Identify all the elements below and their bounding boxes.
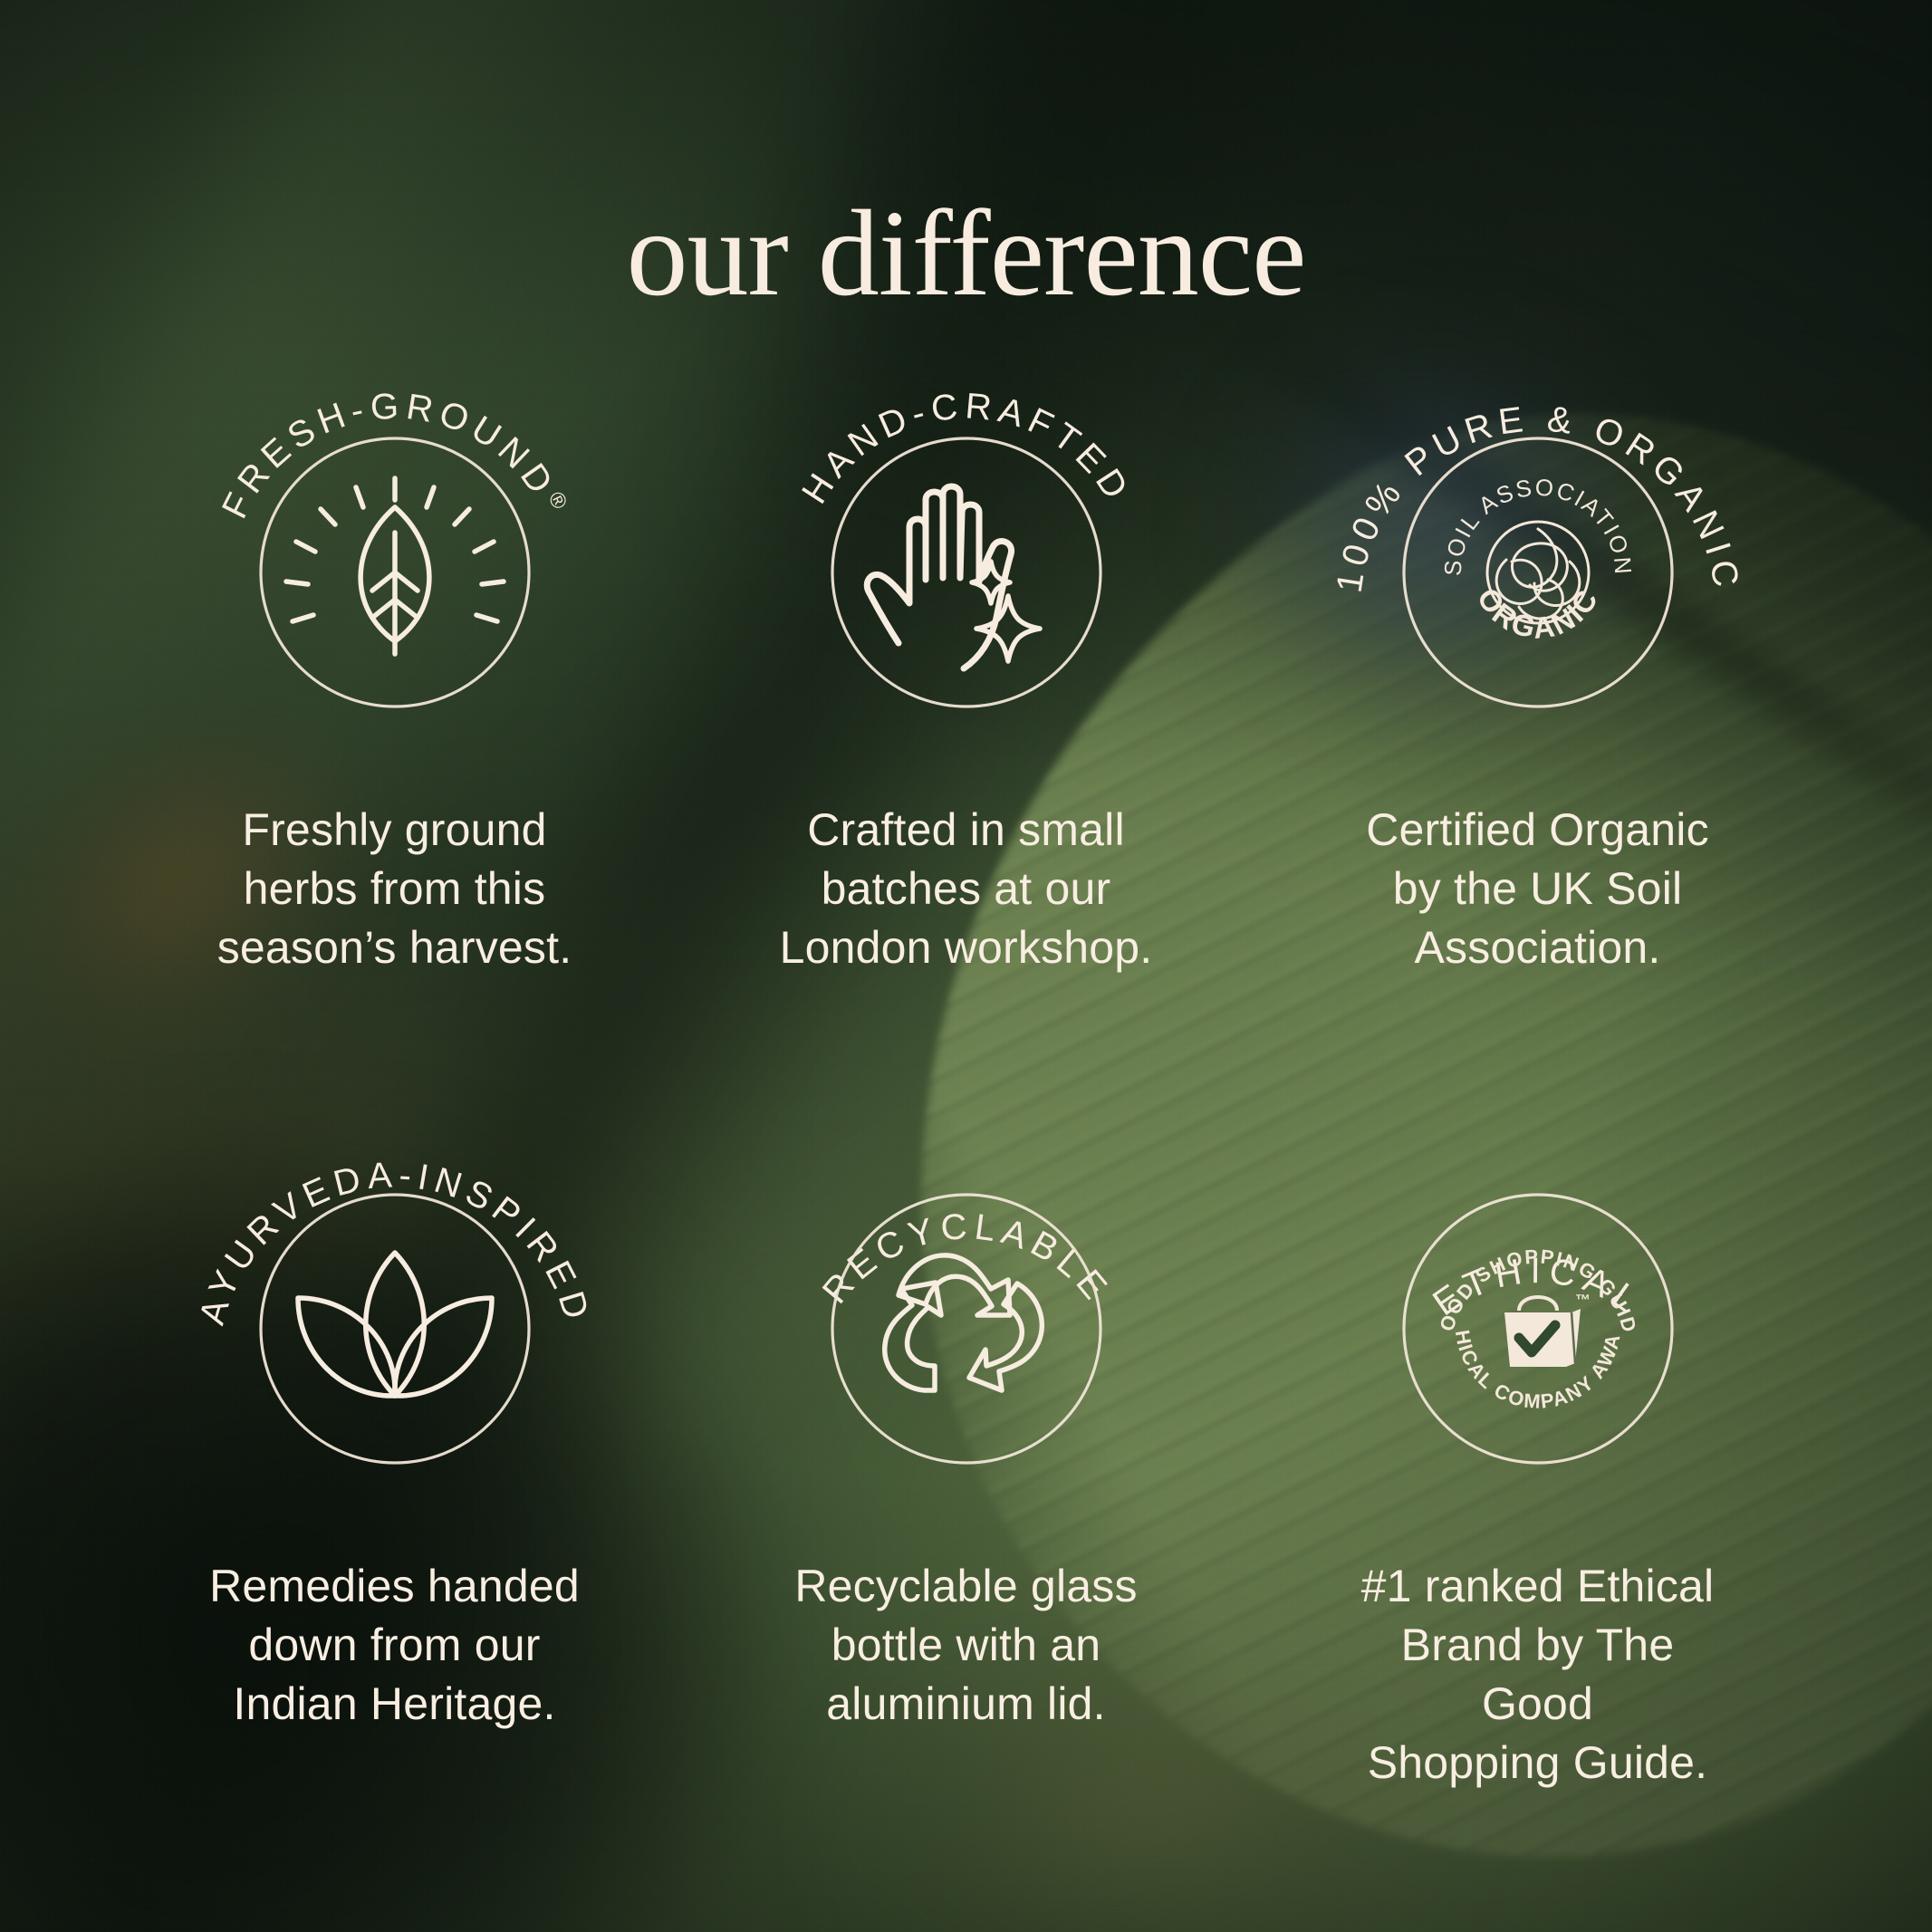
caption-line: by the UK Soil	[1343, 860, 1733, 918]
our-difference-graphic: our difference FRESH-GROUND®	[0, 0, 1932, 1932]
caption-line: Freshly ground	[200, 801, 590, 860]
caption-line: Association.	[1343, 918, 1733, 977]
benefit-caption-fresh-ground: Freshly ground herbs from this season’s …	[200, 801, 590, 977]
page-title: our difference	[0, 189, 1932, 319]
benefit-caption-recyclable: Recyclable glass bottle with an aluminiu…	[772, 1557, 1161, 1734]
caption-line: London workshop.	[772, 918, 1161, 977]
benefit-ethical: ETHICAL GOOD SHOPPING GUIDE ETHICAL COMP…	[1252, 1091, 1823, 1793]
badge-fresh-ground: FRESH-GROUND®	[182, 335, 608, 761]
open-hand-with-sparkles-icon	[867, 486, 1040, 668]
benefit-ayurveda-inspired: AYURVEDA-INSPIRED R	[109, 1091, 680, 1793]
benefit-pure-organic: 100% PURE & ORGANIC SOIL ASSOCIATION ORG…	[1252, 335, 1823, 977]
badge-recyclable: RECYCLABLE	[754, 1091, 1179, 1517]
gsg-arc-bottom: ETHICAL COMPANY AWARD	[1317, 1073, 1625, 1413]
leaf-with-rays-icon	[286, 478, 504, 654]
benefits-grid: FRESH-GROUND®	[109, 335, 1823, 1793]
caption-line: Crafted in small	[772, 801, 1161, 860]
benefit-hand-crafted: HAND-CRAFTED Crafted in small batches at…	[680, 335, 1252, 977]
caption-line: season’s harvest.	[200, 918, 590, 977]
recycling-arrows-icon	[884, 1255, 1042, 1390]
badge-hand-crafted: HAND-CRAFTED	[754, 335, 1179, 761]
benefit-caption-ethical: #1 ranked Ethical Brand by The Good Shop…	[1343, 1557, 1733, 1793]
badge-pure-organic: 100% PURE & ORGANIC SOIL ASSOCIATION ORG…	[1325, 335, 1751, 761]
good-shopping-guide-award-logo: GOOD SHOPPING GUIDE ETHICAL COMPANY AWAR…	[1316, 1073, 1641, 1413]
caption-line: #1 ranked Ethical	[1343, 1557, 1733, 1616]
benefit-caption-pure-organic: Certified Organic by the UK Soil Associa…	[1343, 801, 1733, 977]
benefit-caption-ayurveda-inspired: Remedies handed down from our Indian Her…	[200, 1557, 590, 1734]
caption-line: herbs from this	[200, 860, 590, 918]
benefit-recyclable: RECYCLABLE Recyclab	[680, 1091, 1252, 1793]
benefit-caption-hand-crafted: Crafted in small batches at our London w…	[772, 801, 1161, 977]
soil-association-organic-logo: SOIL ASSOCIATION ORGANIC	[1438, 473, 1637, 645]
caption-line: Certified Organic	[1343, 801, 1733, 860]
badge-ethical: ETHICAL GOOD SHOPPING GUIDE ETHICAL COMP…	[1325, 1091, 1751, 1517]
caption-line: Indian Heritage.	[200, 1675, 590, 1734]
caption-line: aluminium lid.	[772, 1675, 1161, 1734]
soil-association-arc-top: SOIL ASSOCIATION	[1438, 473, 1637, 576]
gsg-trademark: ™	[1575, 1292, 1591, 1309]
caption-line: Remedies handed	[200, 1557, 590, 1616]
caption-line: Shopping Guide.	[1343, 1734, 1733, 1793]
lotus-flower-icon	[298, 1253, 492, 1396]
benefit-fresh-ground: FRESH-GROUND®	[109, 335, 680, 977]
badge-arc-label-hand-crafted: HAND-CRAFTED	[793, 386, 1138, 511]
caption-line: Recyclable glass	[772, 1557, 1161, 1616]
badge-arc-label-ayurveda-inspired: AYURVEDA-INSPIRED	[191, 1155, 597, 1329]
caption-line: bottle with an	[772, 1616, 1161, 1675]
caption-line: batches at our	[772, 860, 1161, 918]
caption-line: Brand by The Good	[1343, 1616, 1733, 1734]
badge-arc-label-fresh-ground: FRESH-GROUND®	[214, 386, 574, 524]
caption-line: down from our	[200, 1616, 590, 1675]
badge-ayurveda-inspired: AYURVEDA-INSPIRED	[182, 1091, 608, 1517]
